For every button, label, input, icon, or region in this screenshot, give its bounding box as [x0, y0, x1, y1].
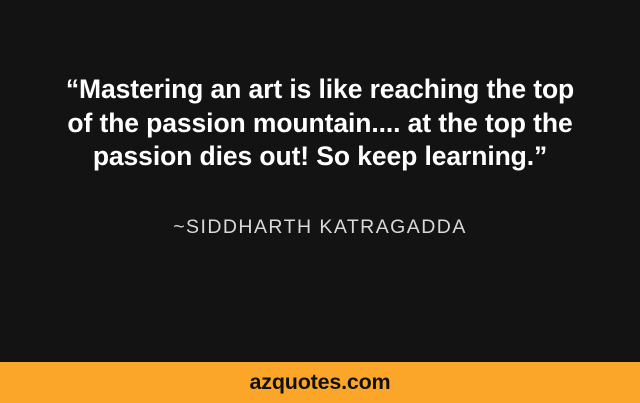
site-footer-bar: azquotes.com [0, 362, 640, 403]
quote-attribution: ~SIDDHARTH KATRAGADDA [40, 216, 600, 239]
site-brand-label: azquotes.com [250, 372, 391, 394]
quote-card: “Mastering an art is like reaching the t… [0, 0, 640, 403]
quote-text: “Mastering an art is like reaching the t… [55, 73, 585, 174]
quote-content-area: “Mastering an art is like reaching the t… [0, 0, 640, 362]
